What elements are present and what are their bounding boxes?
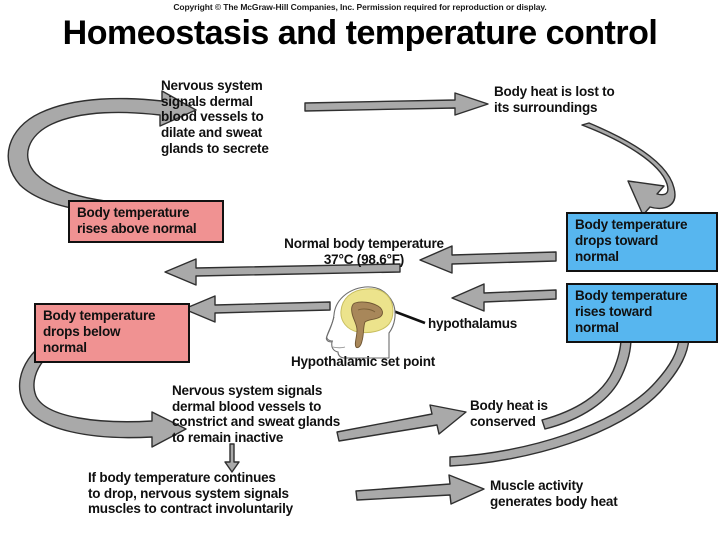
- arrow-constrict-to-conserved: [337, 405, 466, 441]
- arrow-constrict-to-shiver: [225, 444, 239, 472]
- arrow-heat-lost-to-drops-toward: [582, 123, 675, 215]
- node-heat-conserved-text: Body heat is conserved: [470, 398, 548, 429]
- node-muscle-activity-text: Muscle activity generates body heat: [490, 478, 618, 509]
- homeostasis-diagram: Copyright © The McGraw-Hill Companies, I…: [0, 0, 720, 539]
- arrow-shiver-to-muscle: [356, 475, 484, 504]
- label-hypothalamus: hypothalamus: [428, 316, 517, 331]
- arrow-dilate-to-heat-lost: [305, 93, 488, 115]
- node-heat-lost-text: Body heat is lost to its surroundings: [494, 84, 615, 115]
- box-temp-rises-toward-normal: Body temperature rises toward normal: [566, 283, 718, 343]
- node-constrict-text: Nervous system signals dermal blood vess…: [172, 383, 340, 446]
- box-temp-rises-above-normal: Body temperature rises above normal: [68, 200, 224, 243]
- node-dilate-text: Nervous system signals dermal blood vess…: [161, 78, 269, 156]
- box-temp-drops-toward-normal: Body temperature drops toward normal: [566, 212, 718, 272]
- arrow-rises-toward-to-setpoint: [452, 284, 556, 311]
- head-profile-icon: [325, 281, 417, 359]
- label-normal-body-temperature: Normal body temperature 37°C (98.6°F): [274, 236, 454, 268]
- arrow-setpoint-to-drops-below: [184, 296, 330, 322]
- label-hypothalamic-set-point: Hypothalamic set point: [263, 354, 463, 370]
- node-shiver-text: If body temperature continues to drop, n…: [88, 470, 293, 517]
- box-temp-drops-below-normal: Body temperature drops below normal: [34, 303, 190, 363]
